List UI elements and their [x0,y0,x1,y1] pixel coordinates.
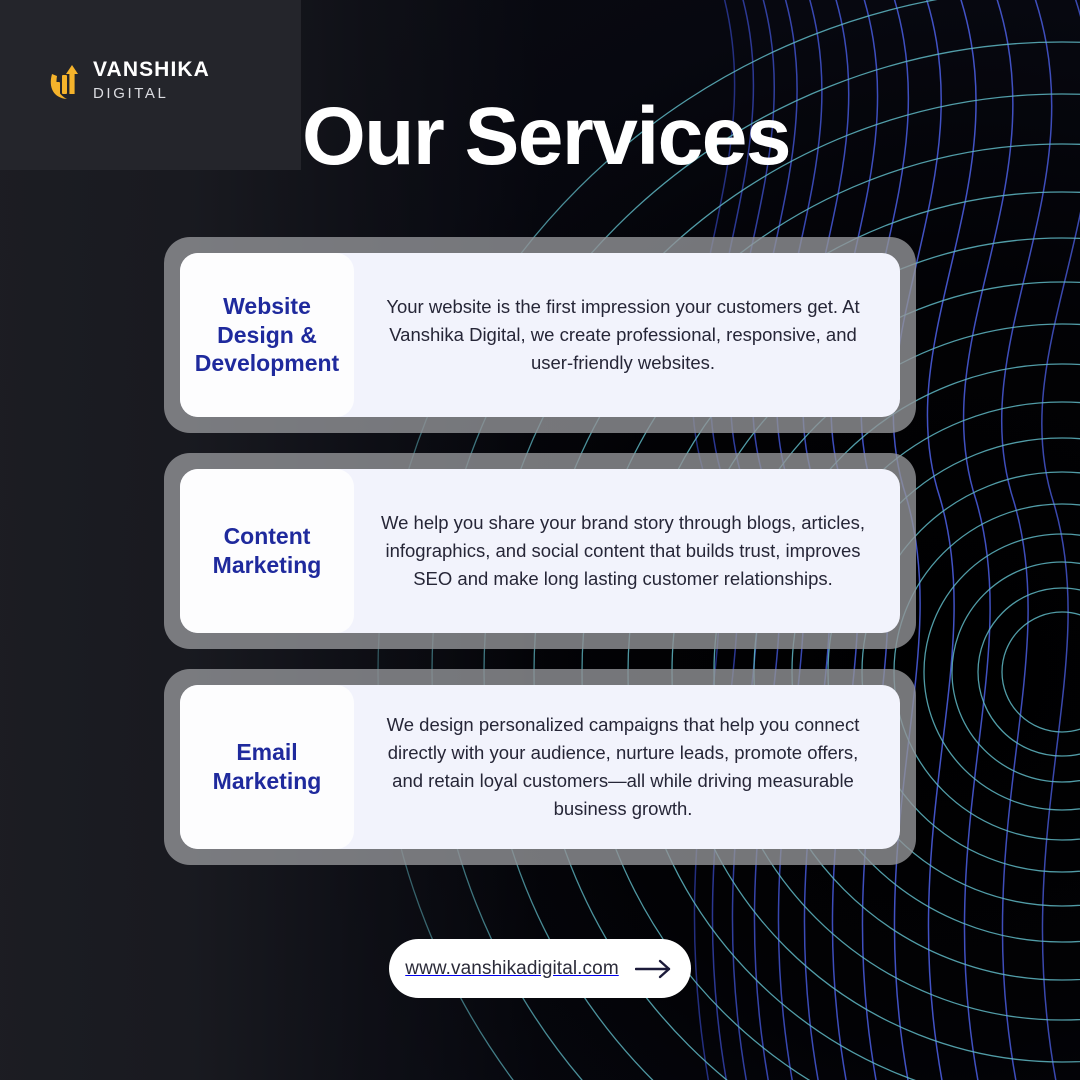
service-card[interactable]: Content Marketing We help you share your… [164,453,916,649]
service-description-wrap: We design personalized campaigns that he… [354,685,900,849]
service-title: Email Marketing [186,738,348,796]
service-description: Your website is the first impression you… [370,293,876,377]
service-title: Content Marketing [186,522,348,580]
service-title: Website Design & Development [186,292,348,379]
service-title-block: Website Design & Development [180,253,354,417]
website-url-button[interactable]: www.vanshikadigital.com [389,939,691,998]
service-title-block: Email Marketing [180,685,354,849]
website-url-text: www.vanshikadigital.com [405,958,619,980]
service-card[interactable]: Email Marketing We design personalized c… [164,669,916,865]
page-title: Our Services [0,96,1080,178]
service-card[interactable]: Website Design & Development Your websit… [164,237,916,433]
service-card-body: Content Marketing We help you share your… [180,469,900,633]
service-title-block: Content Marketing [180,469,354,633]
service-card-body: Email Marketing We design personalized c… [180,685,900,849]
services-poster: VANSHIKA DIGITAL Our Services Website De… [0,0,1080,1080]
service-description-wrap: Your website is the first impression you… [354,253,900,417]
brand-name-primary: VANSHIKA [93,59,210,80]
services-list: Website Design & Development Your websit… [164,237,916,865]
service-card-body: Website Design & Development Your websit… [180,253,900,417]
arrow-right-icon [635,959,675,979]
service-description: We help you share your brand story throu… [370,509,876,593]
service-description: We design personalized campaigns that he… [370,711,876,823]
service-description-wrap: We help you share your brand story throu… [354,469,900,633]
